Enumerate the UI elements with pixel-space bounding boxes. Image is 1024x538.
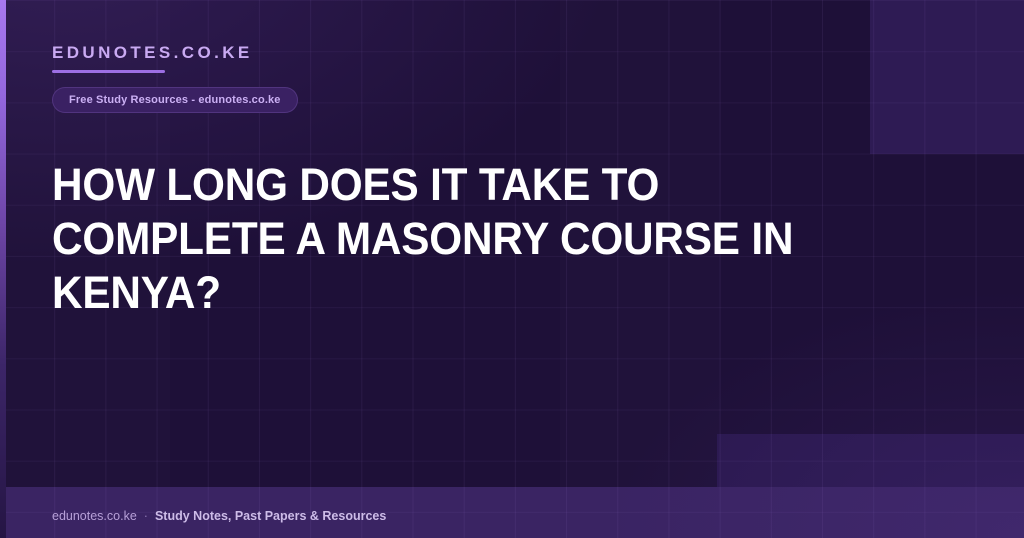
banner-content: EDUNOTES.CO.KE Free Study Resources - ed… [0, 0, 1024, 538]
badge-label: Free Study Resources - edunotes.co.ke [69, 94, 281, 106]
social-share-banner: EDUNOTES.CO.KE Free Study Resources - ed… [0, 0, 1024, 538]
brand-block: EDUNOTES.CO.KE [52, 44, 253, 73]
headline-line-2: COMPLETE A MASONRY COURSE IN [52, 212, 832, 266]
brand-underline-rule [52, 70, 165, 73]
page-title: HOW LONG DOES IT TAKE TO COMPLETE A MASO… [52, 158, 882, 320]
footer-site-name: edunotes.co.ke [52, 509, 137, 523]
footer-separator-dot: · [144, 509, 148, 523]
free-resources-badge: Free Study Resources - edunotes.co.ke [52, 87, 298, 113]
footer-credit: edunotes.co.ke · Study Notes, Past Paper… [52, 509, 386, 523]
headline-line-1: HOW LONG DOES IT TAKE TO [52, 158, 832, 212]
brand-name: EDUNOTES.CO.KE [52, 44, 253, 61]
footer-tagline: Study Notes, Past Papers & Resources [155, 509, 386, 523]
headline-line-3: KENYA? [52, 266, 832, 320]
